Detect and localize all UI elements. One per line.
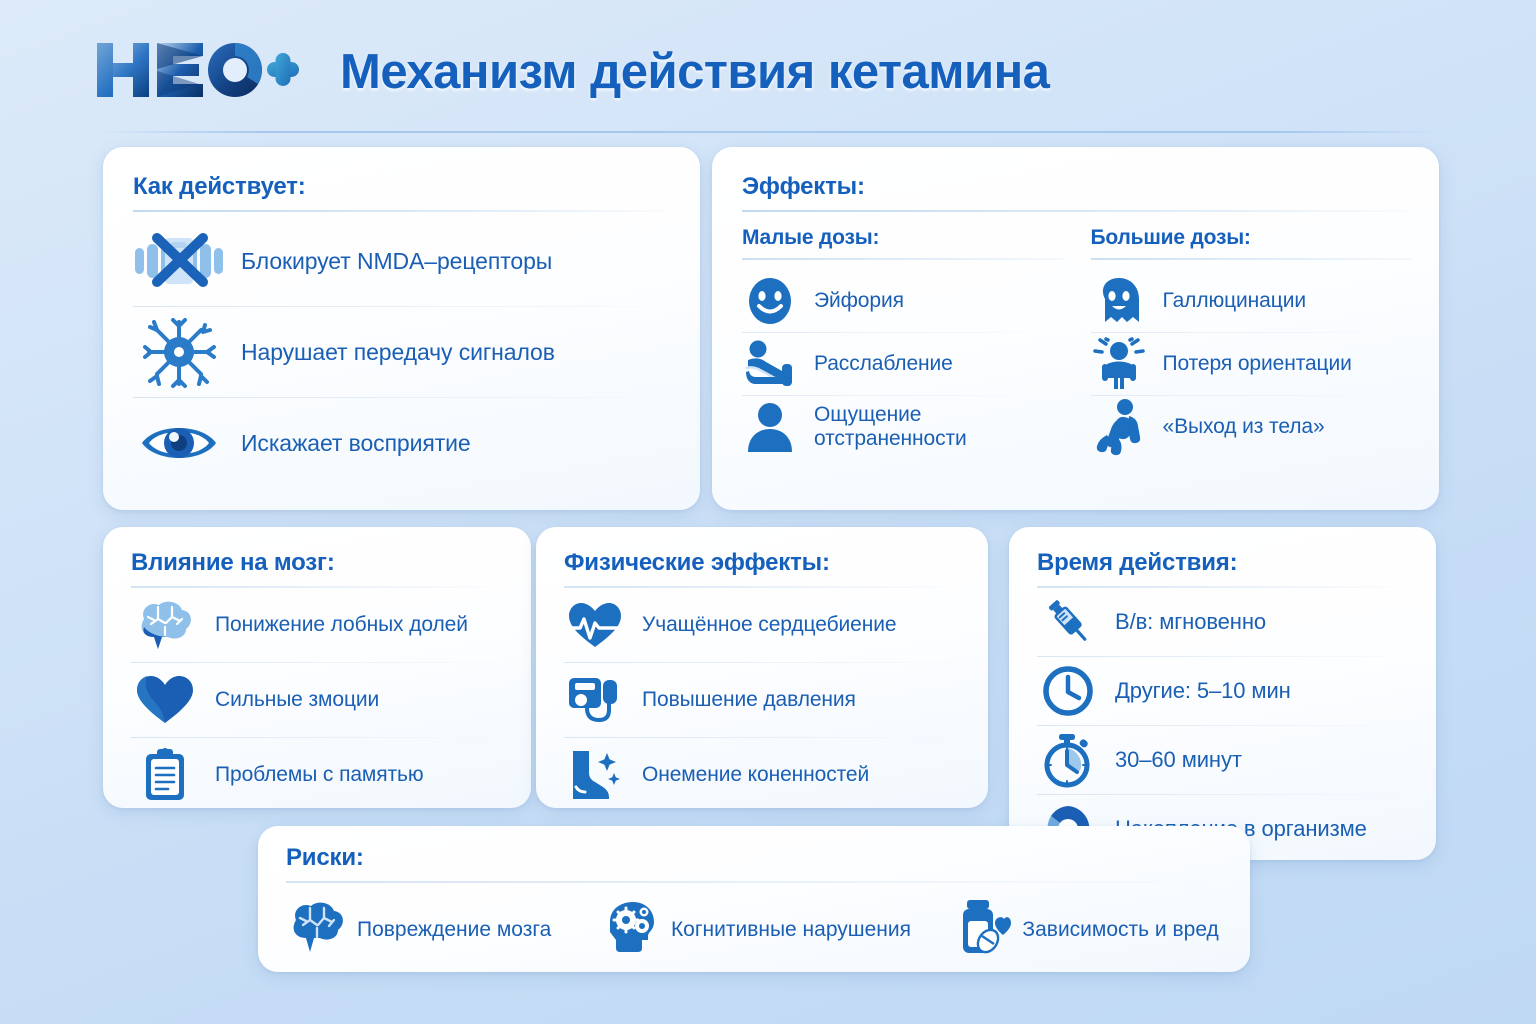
list-item[interactable]: Галлюцинации (1091, 270, 1412, 332)
boot-numbness-icon (564, 749, 626, 801)
card-how-it-works: Как действует: (103, 147, 700, 510)
list-item[interactable]: Онемение коненностей (564, 738, 962, 812)
header-divider (100, 131, 1440, 133)
list-item[interactable]: Сильные змоции (131, 663, 505, 737)
card-title: Влияние на мозг: (131, 549, 505, 577)
heart-pulse-icon (564, 601, 626, 649)
brain-icon (131, 599, 199, 651)
card-title: Эффекты: (742, 173, 1411, 201)
card-brain-impact: Влияние на мозг: Пониж (103, 527, 531, 808)
list-item[interactable]: Повышение давления (564, 663, 962, 737)
infographic-page: Механизм действия кетамина Как действует… (0, 0, 1536, 1024)
column-title: Малые дозы: (742, 226, 1063, 250)
list-item-label: 30–60 минут (1115, 747, 1242, 773)
ghost-icon (1091, 276, 1147, 326)
effects-column-high-dose: Большие дозы: (1091, 226, 1412, 458)
brain-damage-icon (286, 900, 346, 959)
list-item[interactable]: 30–60 минут (1037, 726, 1410, 794)
list-item-label: Когнитивные нарушения (671, 918, 911, 942)
page-title: Механизм действия кетамина (340, 44, 1049, 100)
card-timing: Время действия: (1009, 527, 1436, 860)
list-item-label: Блокирует NMDA–рецепторы (241, 248, 552, 275)
title-divider (742, 210, 1411, 212)
list-item-label: Эйфория (814, 289, 904, 313)
card-physical-effects: Физические эффекты: Учащённое сердцебиен… (536, 527, 988, 808)
column-divider (1091, 258, 1412, 260)
title-divider (286, 881, 1222, 883)
list-item-label: Зависимость и вред (1022, 918, 1218, 942)
list-item[interactable]: Проблемы с памятью (131, 738, 505, 812)
page-header: Механизм действия кетамина (0, 0, 1536, 140)
list-item-label: Сильные змоции (215, 688, 379, 712)
eye-icon (133, 419, 225, 467)
heart-icon (131, 675, 199, 725)
list-item[interactable]: Нарушает передачу сигналов (133, 307, 670, 397)
column-title: Большие дозы: (1091, 226, 1412, 250)
list-item[interactable]: Другие: 5–10 мин (1037, 657, 1410, 725)
card-title: Риски: (286, 844, 1222, 872)
list-item[interactable]: Ощущение отстраненности (742, 396, 1063, 458)
clipboard-icon (131, 748, 199, 802)
list-item-label: Проблемы с памятью (215, 763, 424, 787)
card-title: Как действует: (133, 173, 670, 201)
list-item-label: Ощущение отстраненности (814, 403, 1063, 452)
list-item-label: Нарушает передачу сигналов (241, 339, 555, 366)
list-item[interactable]: Учащённое сердцебиение (564, 588, 962, 662)
list-item-label: «Выход из тела» (1163, 415, 1325, 439)
card-risks: Риски: Повреждение мозга (258, 826, 1250, 972)
pill-bottle-icon (955, 899, 1011, 960)
neo-plus-logo (95, 38, 300, 102)
clock-icon (1037, 666, 1099, 716)
head-gears-icon (602, 900, 660, 959)
list-item-label: Повышение давления (642, 688, 856, 712)
list-item[interactable]: Эйфория (742, 270, 1063, 332)
person-silhouette-icon (742, 402, 798, 452)
nmda-receptor-blocked-icon (133, 232, 225, 290)
list-item-label: Искажает восприятие (241, 430, 471, 457)
stopwatch-icon (1037, 733, 1099, 787)
column-divider (742, 258, 1063, 260)
effects-column-low-dose: Малые дозы: (742, 226, 1063, 458)
list-item[interactable]: Блокирует NMDA–рецепторы (133, 216, 670, 306)
list-item[interactable]: Когнитивные нарушения (602, 900, 955, 959)
list-item-label: Расслабление (814, 352, 953, 376)
list-item[interactable]: Расслабление (742, 333, 1063, 395)
list-item[interactable]: В/в: мгновенно (1037, 588, 1410, 656)
list-item-label: Галлюцинации (1163, 289, 1306, 313)
list-item-label: Учащённое сердцебиение (642, 613, 896, 637)
smiley-face-icon (742, 277, 798, 325)
title-divider (133, 210, 670, 212)
card-title: Время действия: (1037, 549, 1410, 577)
list-item[interactable]: Зависимость и вред (955, 899, 1222, 960)
confused-person-icon (1091, 338, 1147, 390)
card-effects: Эффекты: Малые дозы: (712, 147, 1439, 510)
list-item[interactable]: Повреждение мозга (286, 900, 602, 959)
list-item-label: Повреждение мозга (357, 918, 551, 942)
reclining-person-icon (742, 338, 798, 390)
list-item[interactable]: Искажает восприятие (133, 398, 670, 488)
syringe-icon (1037, 596, 1099, 648)
list-item-label: Потеря ориентации (1163, 352, 1352, 376)
list-item-label: Онемение коненностей (642, 763, 869, 787)
card-title: Физические эффекты: (564, 549, 962, 577)
blood-pressure-monitor-icon (564, 674, 626, 726)
list-item[interactable]: Понижение лобных долей (131, 588, 505, 662)
list-item[interactable]: Потеря ориентации (1091, 333, 1412, 395)
list-item-label: Понижение лобных долей (215, 613, 468, 637)
list-item-label: В/в: мгновенно (1115, 609, 1266, 635)
running-person-icon (1091, 399, 1147, 455)
neuron-icon (133, 316, 225, 388)
list-item-label: Другие: 5–10 мин (1115, 678, 1291, 704)
list-item[interactable]: «Выход из тела» (1091, 396, 1412, 458)
